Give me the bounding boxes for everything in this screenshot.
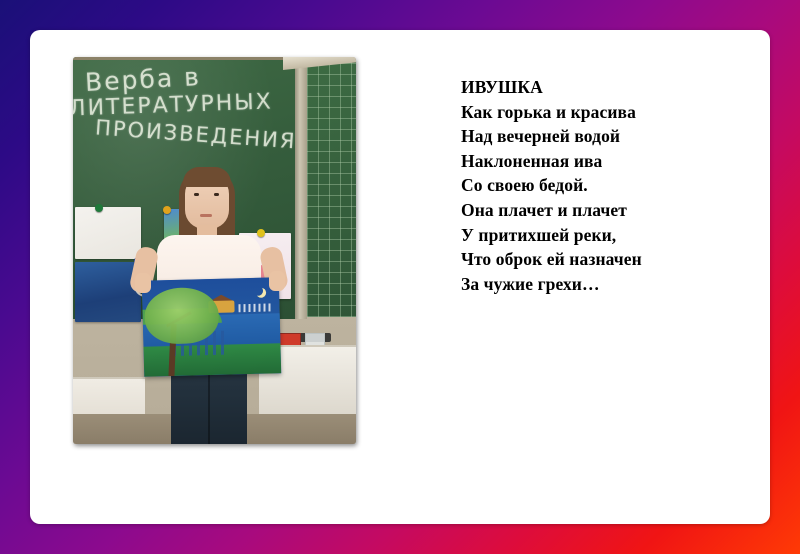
poem-line-8: За чужие грехи… [461,272,751,297]
student-drawing-1 [75,207,141,259]
poem-line-7: Что оброк ей назначен [461,247,751,272]
photo-canvas: Верба в ЛИТЕРАТУРНЫХ ПРОИЗВЕДЕНИЯХ [73,57,356,444]
held-painting [142,277,281,377]
girl-fringe [183,167,231,187]
student-drawing-2 [75,262,141,322]
magnet-yellow [257,229,265,237]
girl-hand-left [135,273,151,293]
poem-line-3: Наклоненная ива [461,149,751,174]
magnet-orange-1 [163,206,171,214]
slide-frame: Верба в ЛИТЕРАТУРНЫХ ПРОИЗВЕДЕНИЯХ [0,0,800,554]
painting-fence [238,303,272,312]
poem-line-6: У притихшей реки, [461,223,751,248]
classroom-photo: Верба в ЛИТЕРАТУРНЫХ ПРОИЗВЕДЕНИЯХ [73,57,356,444]
girl-eye-right [214,193,219,196]
poem-block: ИВУШКА Как горька и красива Над вечерней… [461,75,751,296]
poem-line-2: Над вечерней водой [461,124,751,149]
poem-line-1: Как горька и красива [461,100,751,125]
poem-title: ИВУШКА [461,75,751,100]
girl-hand-right [269,271,285,291]
chalkboard-heading-line-3: ПРОИЗВЕДЕНИЯХ [94,115,313,154]
poem-line-5: Она плачет и плачет [461,198,751,223]
chalkboard-grid-panel [307,59,356,317]
chalkboard-divider [295,57,307,319]
girl-eye-left [194,193,199,196]
slide-content-card: Верба в ЛИТЕРАТУРНЫХ ПРОИЗВЕДЕНИЯХ [30,30,770,524]
magnet-green [95,204,103,212]
chalkboard-top-edge [73,57,295,60]
girl-mouth [200,214,212,217]
poem-line-4: Со своею бедой. [461,173,751,198]
painting-willow-canopy [144,287,219,345]
